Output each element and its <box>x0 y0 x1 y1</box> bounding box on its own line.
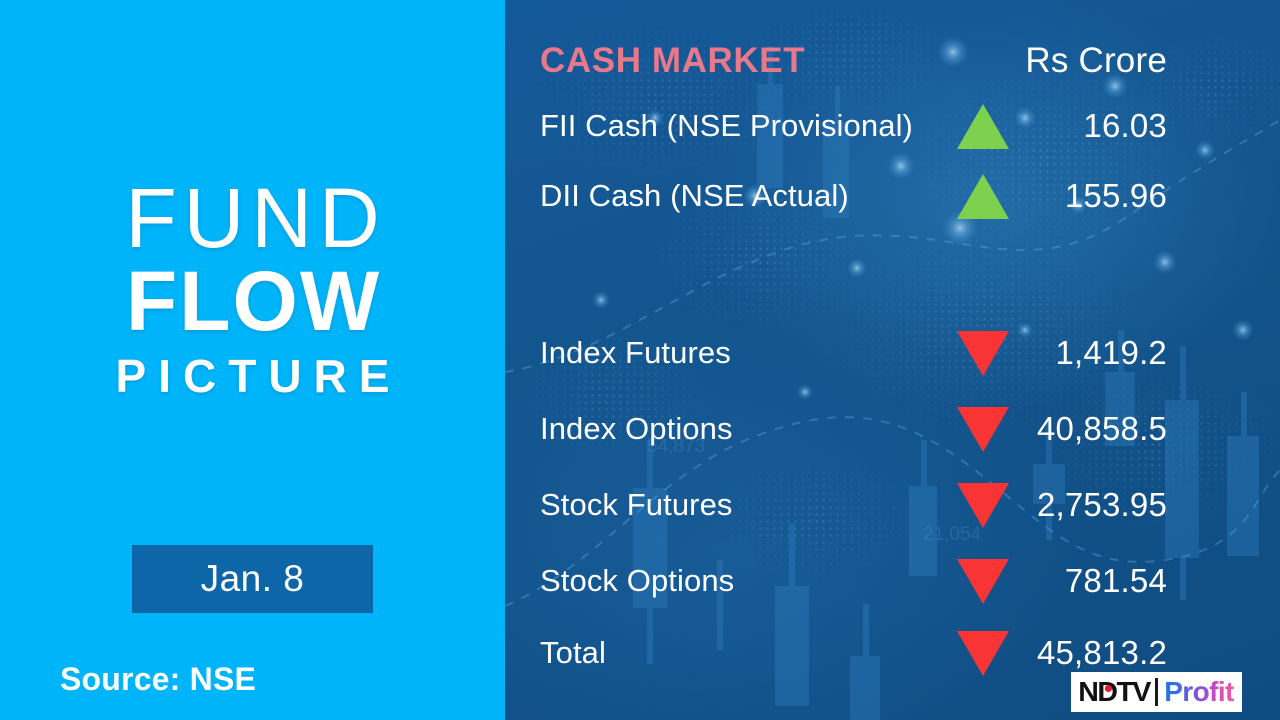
trend-arrow-down-icon <box>955 407 1011 452</box>
logo-profit-wordmark: Profit <box>1164 676 1234 708</box>
data-panel: 54,873 21,054 CASH MARKET Rs Crore FII C… <box>505 0 1280 720</box>
fund-flow-graphic: FUND FLOW PICTURE Jan. 8 Source: NSE <box>0 0 1280 720</box>
date-badge-label: Jan. 8 <box>201 558 305 600</box>
left-branding-panel: FUND FLOW PICTURE Jan. 8 Source: NSE <box>0 0 505 720</box>
brand-title-block: FUND FLOW PICTURE <box>0 178 505 406</box>
trend-arrow-down-icon <box>955 331 1011 376</box>
table-row: Index Options 40,858.5 <box>505 401 1280 457</box>
table-row: DII Cash (NSE Actual) 155.96 <box>505 168 1280 224</box>
ndtv-profit-logo: NDTV Profit <box>1071 672 1242 712</box>
table-row: Stock Options 781.54 <box>505 553 1280 609</box>
table-row: FII Cash (NSE Provisional) 16.03 <box>505 98 1280 154</box>
trend-arrow-down-icon <box>955 631 1011 676</box>
row-value: 781.54 <box>1025 562 1167 600</box>
brand-line-picture: PICTURE <box>0 348 505 406</box>
row-label: DII Cash (NSE Actual) <box>540 178 849 214</box>
logo-red-dot-icon <box>1105 685 1112 692</box>
unit-label: Rs Crore <box>945 41 1167 81</box>
row-value: 155.96 <box>1025 177 1167 215</box>
brand-line-fund: FUND <box>0 178 505 259</box>
row-value: 40,858.5 <box>1025 410 1167 448</box>
logo-divider <box>1155 678 1158 706</box>
source-attribution: Source: NSE <box>60 661 256 698</box>
row-label: Total <box>540 635 606 671</box>
trend-arrow-up-icon <box>955 174 1011 219</box>
row-label: FII Cash (NSE Provisional) <box>540 108 913 144</box>
row-value: 1,419.2 <box>1025 334 1167 372</box>
table-row: Index Futures 1,419.2 <box>505 325 1280 381</box>
row-label: Stock Options <box>540 563 734 599</box>
section-title: CASH MARKET <box>540 41 805 81</box>
brand-line-flow: FLOW <box>0 259 505 345</box>
row-label: Stock Futures <box>540 487 733 523</box>
row-value: 45,813.2 <box>1025 634 1167 672</box>
row-value: 16.03 <box>1025 107 1167 145</box>
row-label: Index Options <box>540 411 733 447</box>
trend-arrow-up-icon <box>955 104 1011 149</box>
row-value: 2,753.95 <box>1025 486 1167 524</box>
logo-ndtv-text: NDTV <box>1078 676 1150 707</box>
date-badge: Jan. 8 <box>132 545 373 613</box>
trend-arrow-down-icon <box>955 483 1011 528</box>
logo-ndtv-wordmark: NDTV <box>1078 676 1150 708</box>
table-row: Stock Futures 2,753.95 <box>505 477 1280 533</box>
row-label: Index Futures <box>540 335 731 371</box>
trend-arrow-down-icon <box>955 559 1011 604</box>
